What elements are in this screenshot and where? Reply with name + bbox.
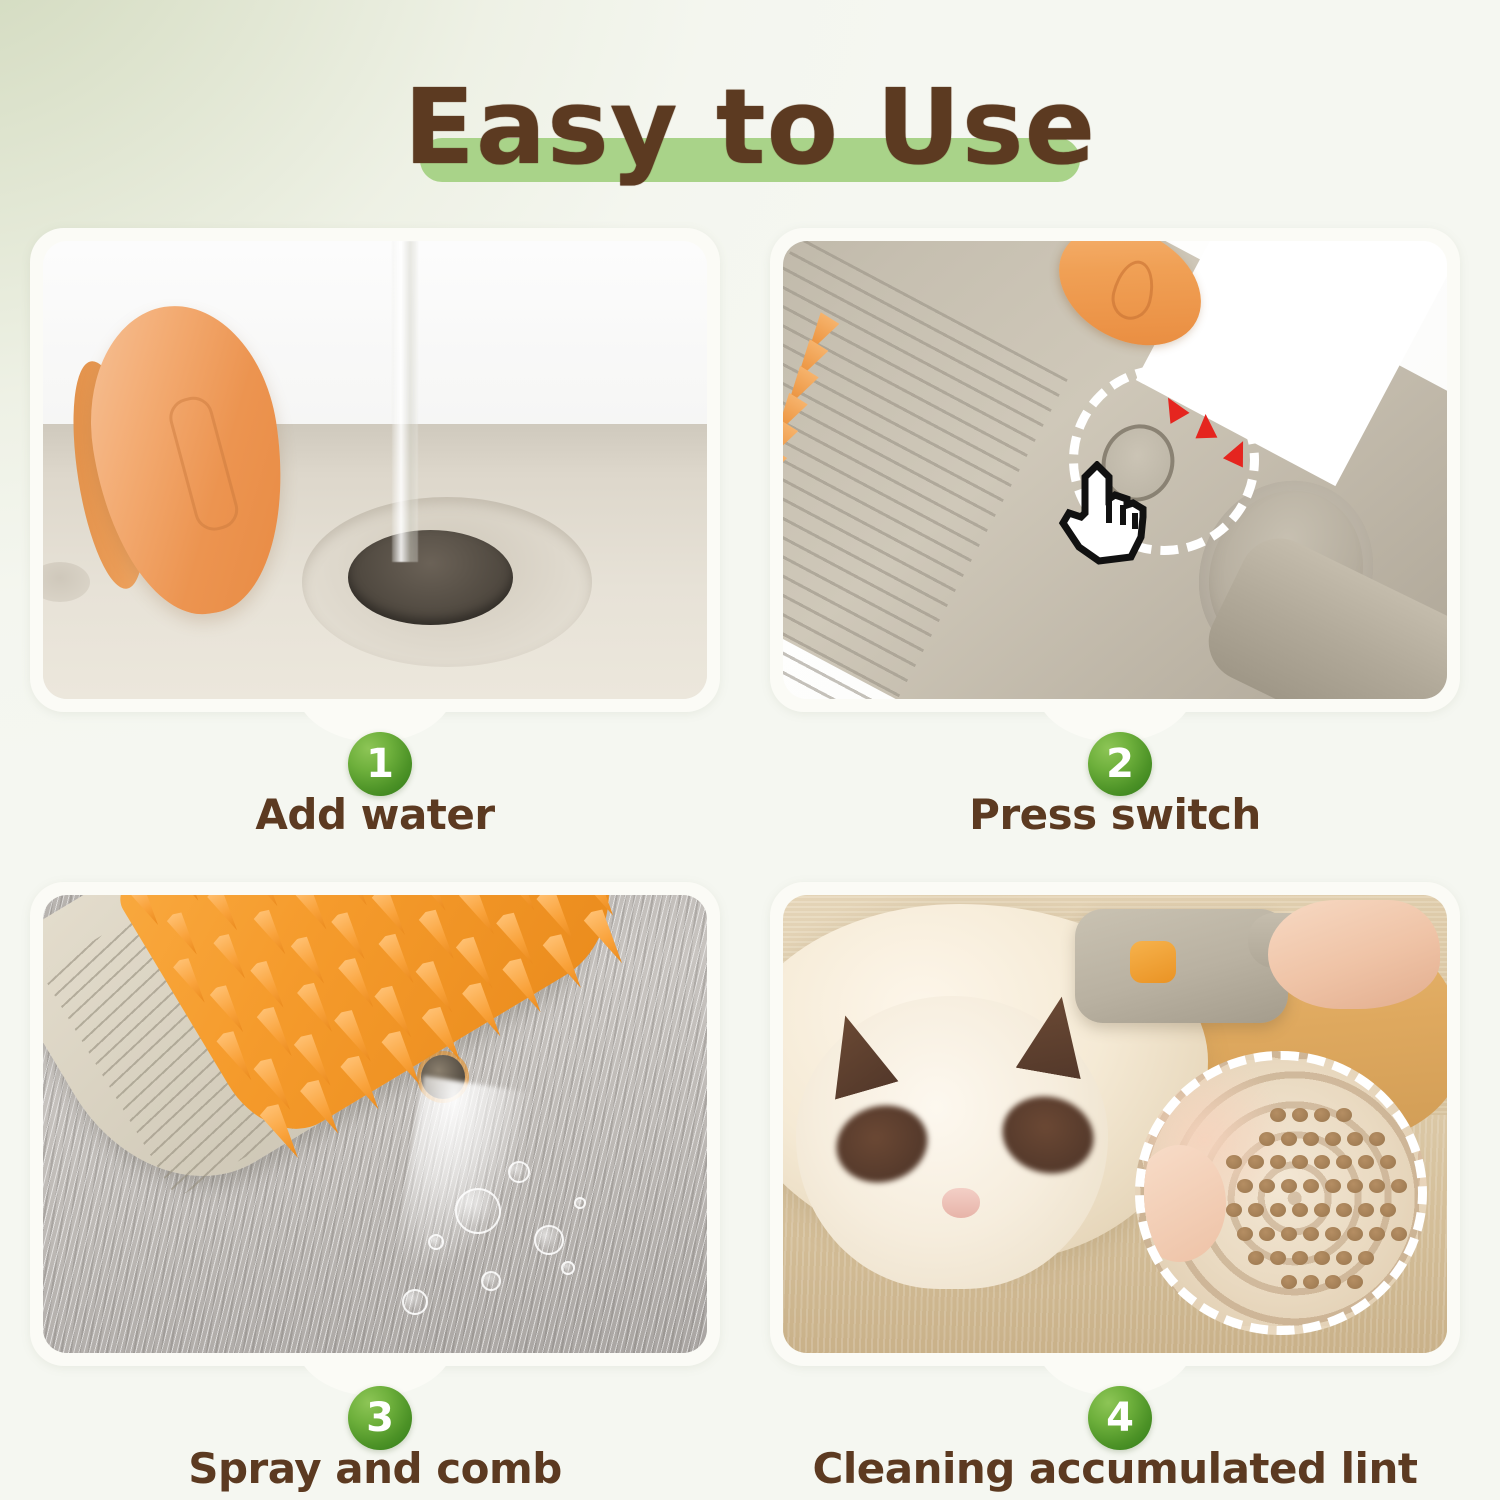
step-badge-2: 2 <box>1088 732 1152 796</box>
step-caption-2: Press switch <box>770 790 1460 839</box>
step-card-3: 3 Spray and comb <box>30 882 730 1478</box>
step-badge-3: 3 <box>348 1386 412 1450</box>
tank-port-hole <box>348 530 513 625</box>
step-badge-4: 4 <box>1088 1386 1152 1450</box>
water-poured-into-brush-tank-photo <box>43 241 707 699</box>
hand-cursor-icon <box>1055 461 1151 565</box>
page-title: Easy to Use <box>404 75 1096 179</box>
human-hand <box>1268 900 1441 1010</box>
step-card-4: 4 Cleaning accumulated lint <box>770 882 1470 1478</box>
bristle-holes <box>1144 1060 1418 1326</box>
photo-frame-1 <box>30 228 720 712</box>
step-caption-1: Add water <box>30 790 720 839</box>
press-switch-on-brush-photo <box>783 241 1447 699</box>
step-card-2: 2 Press switch <box>770 228 1470 824</box>
photo-frame-4 <box>770 882 1460 1366</box>
spray-and-comb-fur-photo <box>43 895 707 1353</box>
water-stream <box>392 241 418 562</box>
soap-bubbles <box>43 895 707 1353</box>
step-caption-3: Spray and comb <box>30 1444 720 1493</box>
step-caption-4: Cleaning accumulated lint <box>770 1444 1460 1493</box>
lint-closeup-inset <box>1135 1051 1427 1335</box>
page-title-block: Easy to Use <box>0 62 1500 192</box>
step-card-1: 1 Add water <box>30 228 730 824</box>
click-rays-icon <box>1155 392 1275 482</box>
cleaning-accumulated-lint-photo <box>783 895 1447 1353</box>
infographic-page: Easy to Use 1 Add water <box>0 0 1500 1500</box>
photo-frame-3 <box>30 882 720 1366</box>
steps-grid: 1 Add water <box>30 228 1470 1478</box>
step-badge-1: 1 <box>348 732 412 796</box>
photo-frame-2 <box>770 228 1460 712</box>
